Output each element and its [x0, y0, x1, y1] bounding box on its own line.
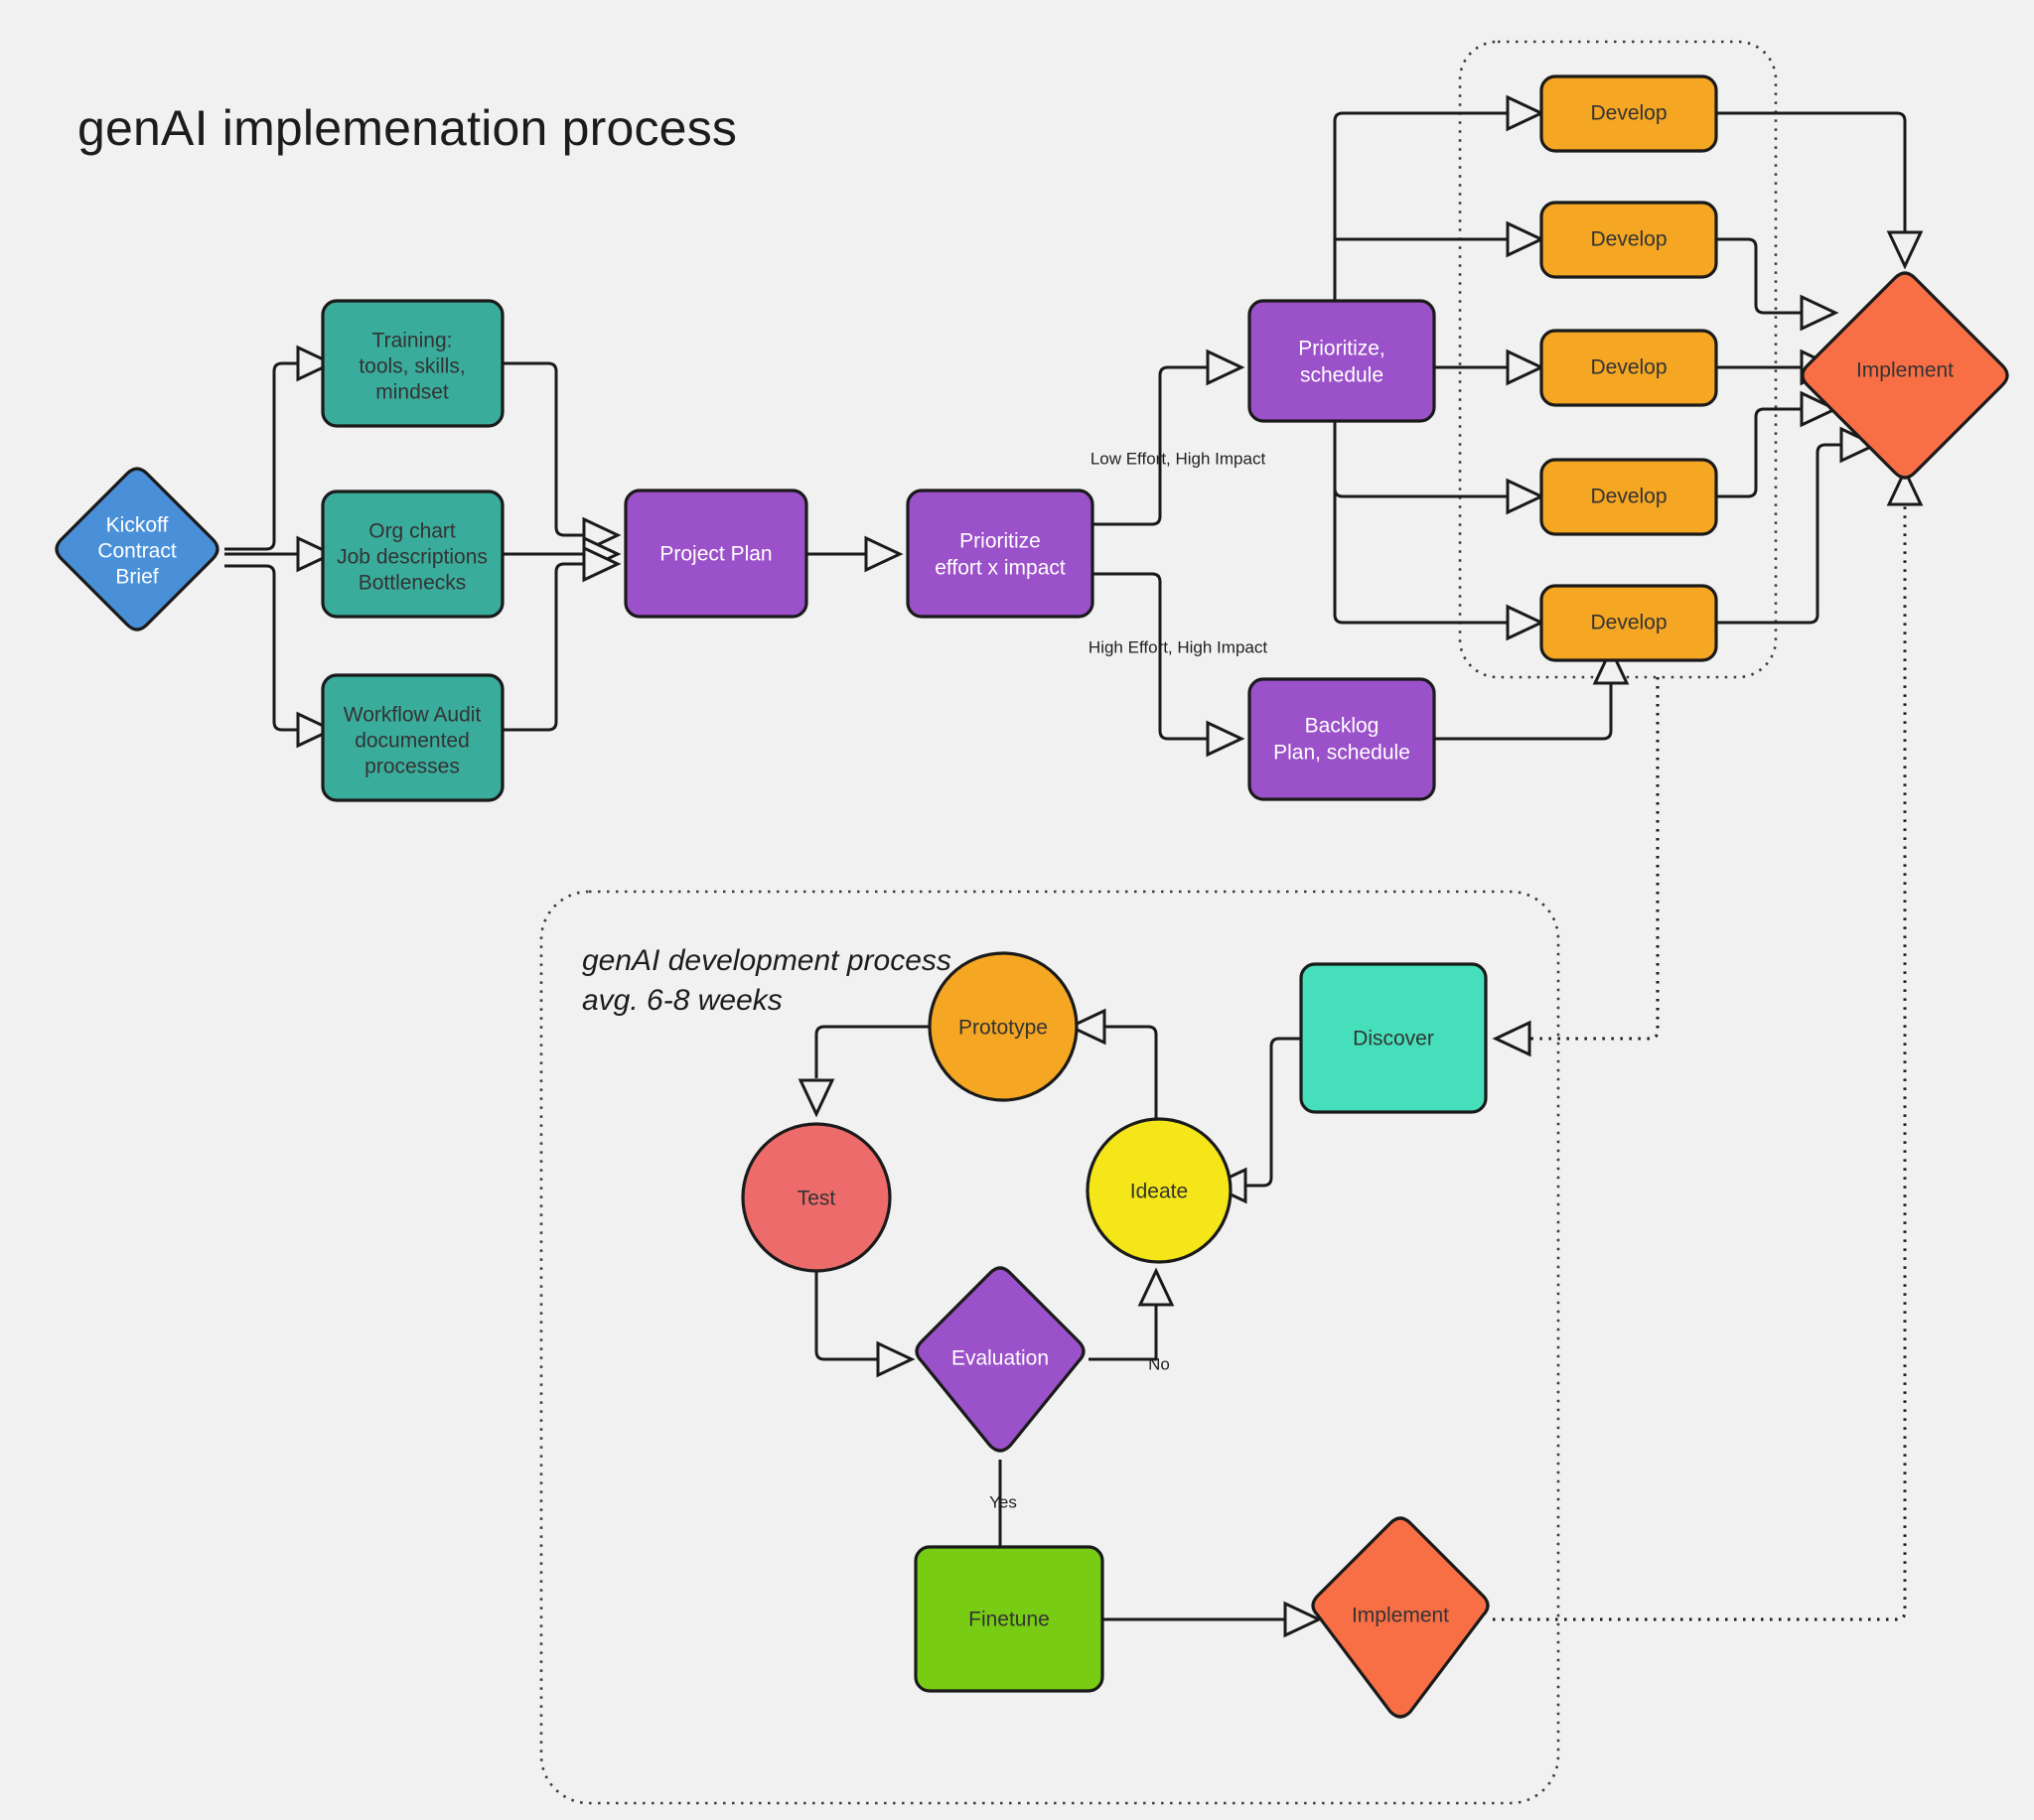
edge-kickoff-workflow: [224, 566, 300, 730]
workflow-label-line2: documented: [355, 730, 470, 753]
backlog-label-line1: Backlog: [1305, 715, 1380, 738]
node-prioritize-effort[interactable]: Prioritize effort x impact: [908, 490, 1092, 617]
develop4-label: Develop: [1590, 486, 1667, 508]
edge-develop-cluster-discover: [1527, 677, 1658, 1039]
node-workflow-audit[interactable]: Workflow Audit documented processes: [323, 675, 503, 800]
edge-test-evaluation: [816, 1266, 880, 1359]
implement-dev-label: Implement: [1352, 1605, 1449, 1627]
arrow-schedule-develop5: [1508, 607, 1541, 638]
edge-label-high-effort: High Effort, High Impact: [1089, 637, 1267, 656]
arrow-schedule-develop4: [1508, 481, 1541, 512]
orgchart-label-line2: Job descriptions: [337, 546, 488, 569]
edge-schedule-develop4: [1335, 421, 1510, 496]
edge-develop2-implement: [1716, 239, 1804, 313]
backlog-label-line2: Plan, schedule: [1273, 742, 1410, 765]
arrow-prioritize-backlog: [1208, 723, 1241, 755]
training-label-line1: Training:: [372, 330, 453, 352]
discover-label: Discover: [1353, 1028, 1434, 1050]
node-develop-5[interactable]: Develop: [1541, 586, 1716, 660]
arrow-schedule-develop3: [1508, 351, 1541, 383]
flowchart-canvas: genAI implemenation process genAI develo…: [0, 0, 2034, 1820]
orgchart-label-line3: Bottlenecks: [359, 572, 467, 595]
arrow-test-evaluation: [878, 1343, 912, 1375]
prioritize-effort-rect-shape: [908, 490, 1092, 617]
node-project-plan[interactable]: Project Plan: [626, 490, 806, 617]
test-label: Test: [798, 1188, 836, 1210]
kickoff-label-line3: Brief: [115, 566, 158, 589]
backlog-rect-shape: [1249, 679, 1434, 799]
edge-kickoff-training: [224, 363, 300, 549]
node-implement-main[interactable]: Implement: [1803, 273, 2007, 478]
node-ideate[interactable]: Ideate: [1088, 1119, 1231, 1262]
edge-label-yes: Yes: [989, 1492, 1017, 1511]
prototype-label: Prototype: [958, 1017, 1048, 1040]
arrow-prioritize-schedule: [1208, 351, 1241, 383]
arrow-schedule-develop1: [1508, 97, 1541, 129]
edge-develop5-implement: [1716, 445, 1843, 623]
node-evaluation[interactable]: Evaluation: [917, 1268, 1084, 1451]
develop2-label: Develop: [1590, 228, 1667, 251]
projectplan-label: Project Plan: [659, 543, 772, 566]
ideate-label: Ideate: [1130, 1181, 1188, 1203]
node-test[interactable]: Test: [743, 1124, 890, 1271]
arrow-develop2-implement: [1802, 297, 1835, 329]
node-prototype[interactable]: Prototype: [930, 953, 1077, 1100]
edge-prototype-test: [816, 1027, 930, 1078]
node-develop-1[interactable]: Develop: [1541, 76, 1716, 151]
develop5-label: Develop: [1590, 612, 1667, 634]
edge-schedule-develop5: [1335, 421, 1510, 623]
arrow-develop1-implement: [1889, 232, 1921, 266]
node-discover[interactable]: Discover: [1301, 964, 1486, 1112]
workflow-label-line1: Workflow Audit: [344, 704, 482, 727]
workflow-label-line3: processes: [364, 756, 460, 778]
node-backlog[interactable]: Backlog Plan, schedule: [1249, 679, 1434, 799]
arrow-evaluation-ideate-no: [1140, 1271, 1172, 1305]
edge-implementdev-implementmain: [1493, 506, 1905, 1619]
orgchart-label-line1: Org chart: [368, 520, 456, 543]
node-implement-dev[interactable]: Implement: [1313, 1518, 1488, 1717]
arrow-schedule-develop2: [1508, 223, 1541, 255]
prioritize-schedule-label-line1: Prioritize,: [1298, 338, 1385, 360]
prioritize-effort-label-line1: Prioritize: [959, 530, 1041, 553]
arrow-projectplan-prioritize: [866, 538, 900, 570]
arrow-prototype-test: [800, 1080, 832, 1114]
kickoff-label-line1: Kickoff: [106, 514, 169, 537]
edge-training-projectplan: [503, 363, 586, 535]
node-finetune[interactable]: Finetune: [916, 1547, 1102, 1691]
edge-develop4-implement: [1716, 409, 1804, 496]
node-orgchart[interactable]: Org chart Job descriptions Bottlenecks: [323, 491, 503, 617]
edge-schedule-develop1: [1335, 113, 1510, 314]
prioritize-schedule-rect-shape: [1249, 301, 1434, 421]
evaluation-label: Evaluation: [951, 1347, 1049, 1370]
develop1-label: Develop: [1590, 102, 1667, 125]
edge-label-low-effort: Low Effort, High Impact: [1090, 449, 1266, 468]
node-kickoff[interactable]: Kickoff Contract Brief: [57, 469, 218, 630]
edge-label-no: No: [1148, 1354, 1170, 1373]
edge-workflow-projectplan: [503, 564, 586, 730]
arrow-develop-cluster-discover: [1496, 1023, 1529, 1054]
implement-main-label: Implement: [1856, 359, 1954, 382]
edge-backlog-develop5: [1434, 681, 1611, 739]
prioritize-effort-label-line2: effort x impact: [935, 557, 1066, 580]
node-training[interactable]: Training: tools, skills, mindset: [323, 301, 503, 426]
node-develop-2[interactable]: Develop: [1541, 203, 1716, 277]
prioritize-schedule-label-line2: schedule: [1300, 364, 1383, 387]
kickoff-label-line2: Contract: [97, 540, 177, 563]
node-prioritize-schedule[interactable]: Prioritize, schedule: [1249, 301, 1434, 421]
finetune-label: Finetune: [968, 1609, 1050, 1631]
training-label-line3: mindset: [375, 381, 449, 404]
develop3-label: Develop: [1590, 356, 1667, 379]
edge-discover-ideate: [1243, 1039, 1301, 1186]
edge-evaluation-ideate-no: [1089, 1303, 1156, 1359]
training-label-line2: tools, skills,: [359, 355, 465, 378]
edge-prioritize-schedule: [1092, 367, 1210, 524]
edge-develop1-implement: [1716, 113, 1905, 234]
flow-svg: Low Effort, High Impact High Effort, Hig…: [0, 0, 2034, 1820]
node-develop-4[interactable]: Develop: [1541, 460, 1716, 534]
node-develop-3[interactable]: Develop: [1541, 331, 1716, 405]
